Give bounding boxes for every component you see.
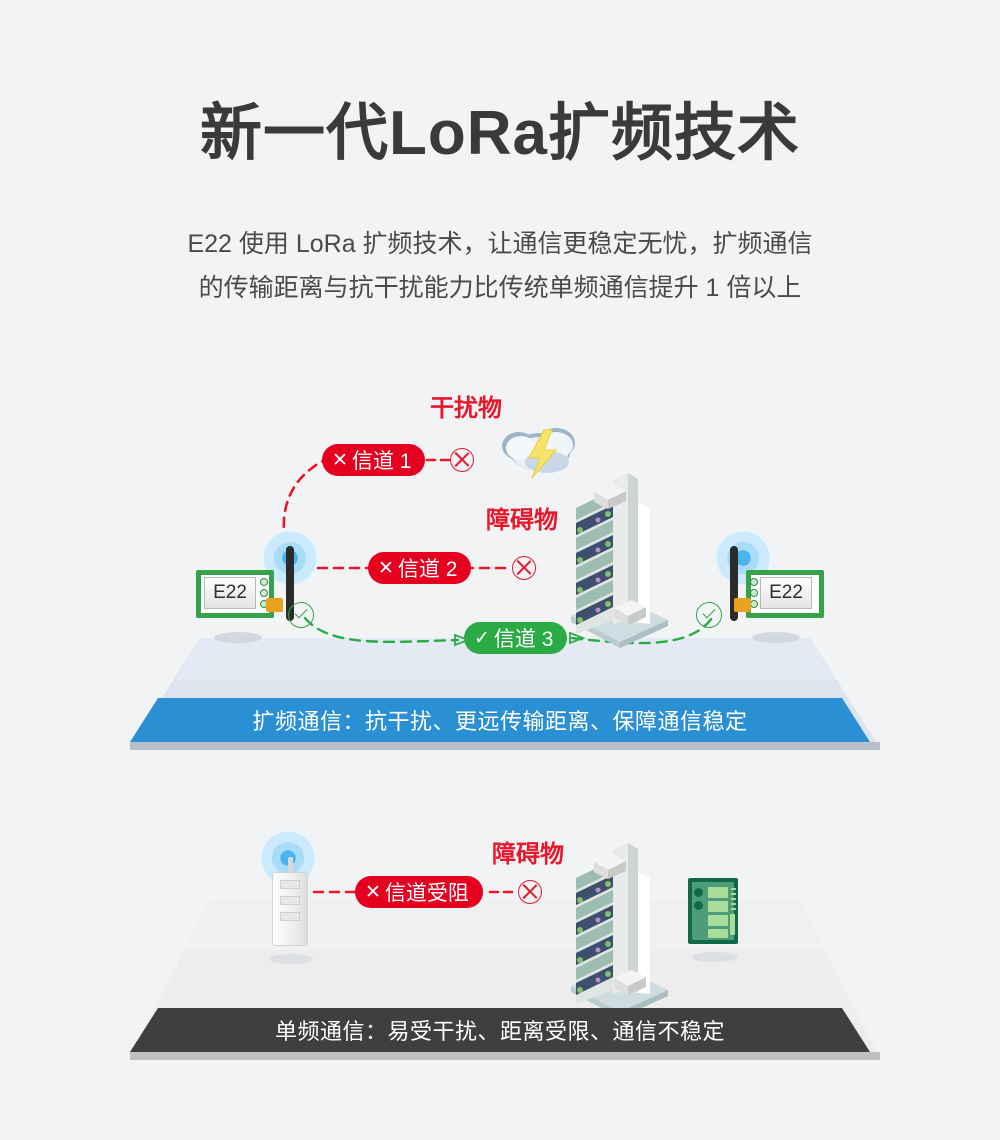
badge-channel-1[interactable]: ✕ 信道 1	[322, 444, 425, 476]
pcb-pad-4	[708, 929, 728, 938]
pcb-trace-1	[731, 888, 736, 890]
obstacle-label-top: 障碍物	[486, 500, 558, 535]
module-connector-right	[734, 598, 751, 612]
pcb-vertical-trace	[730, 914, 735, 935]
check-mark-icon-3: ✓	[474, 629, 490, 648]
module-shadow-right	[752, 632, 800, 643]
module-label-plate-left: E22	[204, 577, 256, 609]
pcb-module[interactable]	[688, 878, 742, 948]
pcb-pad-1	[708, 887, 728, 898]
pcb-trace-3	[731, 898, 736, 900]
badge-channel-3[interactable]: ✓ 信道 3	[464, 622, 567, 654]
spread-caption-text: 扩频通信：抗干扰、更远传输距离、保障通信稳定	[0, 698, 1000, 742]
e22-module-left[interactable]: E22	[196, 570, 296, 630]
check-icon-right	[696, 602, 722, 628]
pcb-trace-2	[731, 893, 736, 895]
router-body	[272, 872, 308, 946]
badge-channel-3-label: 信道 3	[494, 629, 554, 650]
pcb-trace-5	[731, 908, 736, 910]
e22-module-right[interactable]: E22	[712, 570, 812, 630]
page-root: 新一代LoRa扩频技术 E22 使用 LoRa 扩频技术，让通信更稳定无忧，扩频…	[0, 0, 1000, 1140]
module-connector-left	[266, 598, 283, 612]
page-subtitle: E22 使用 LoRa 扩频技术，让通信更稳定无忧，扩频通信 的传输距离与抗干扰…	[120, 222, 880, 310]
blocked-icon-2	[512, 556, 536, 580]
single-caption-text: 单频通信：易受干扰、距离受限、通信不稳定	[0, 1008, 1000, 1052]
cloud-lightning-icon	[502, 428, 575, 478]
pcb-trace-4	[731, 903, 736, 905]
blocked-icon-3	[518, 880, 542, 904]
pcb-dot-1	[694, 888, 703, 897]
pcb-pad-3	[708, 915, 728, 926]
subtitle-line-2: 的传输距离与抗干扰能力比传统单频通信提升 1 倍以上	[120, 266, 880, 310]
pcb-pad-2	[708, 901, 728, 912]
blocked-icon-1	[450, 448, 474, 472]
cross-icon-2: ✕	[378, 559, 394, 578]
cross-icon-1: ✕	[332, 451, 348, 470]
badge-channel-1-label: 信道 1	[352, 451, 412, 472]
badge-channel-blocked[interactable]: ✕ 信道受阻	[355, 876, 483, 908]
module-label-plate-right: E22	[760, 577, 812, 609]
spread-spectrum-scene: E22 E22 ✕ 信道 1 ✕ 信道 2 ✓	[0, 380, 1000, 760]
router-shadow	[269, 954, 313, 964]
interference-label: 干扰物	[430, 388, 502, 423]
check-icon-left	[288, 602, 314, 628]
subtitle-line-1: E22 使用 LoRa 扩频技术，让通信更稳定无忧，扩频通信	[120, 222, 880, 266]
obstacle-label-bottom: 障碍物	[492, 834, 564, 869]
badge-channel-blocked-label: 信道受阻	[385, 883, 469, 904]
page-title: 新一代LoRa扩频技术	[0, 98, 1000, 170]
module-pads-right	[750, 578, 757, 611]
module-shadow-left	[214, 632, 262, 643]
ground-base-strip	[130, 742, 880, 750]
badge-channel-2[interactable]: ✕ 信道 2	[368, 552, 471, 584]
single-frequency-scene: ✕ 信道受阻 障碍物 单频	[0, 790, 1000, 1070]
badge-channel-2-label: 信道 2	[398, 559, 458, 580]
router-device[interactable]	[272, 872, 312, 950]
ground-base-strip-2	[130, 1052, 880, 1060]
pcb-dot-2	[694, 901, 703, 910]
cross-icon-blocked: ✕	[365, 883, 381, 902]
pcb-shadow	[692, 952, 738, 962]
